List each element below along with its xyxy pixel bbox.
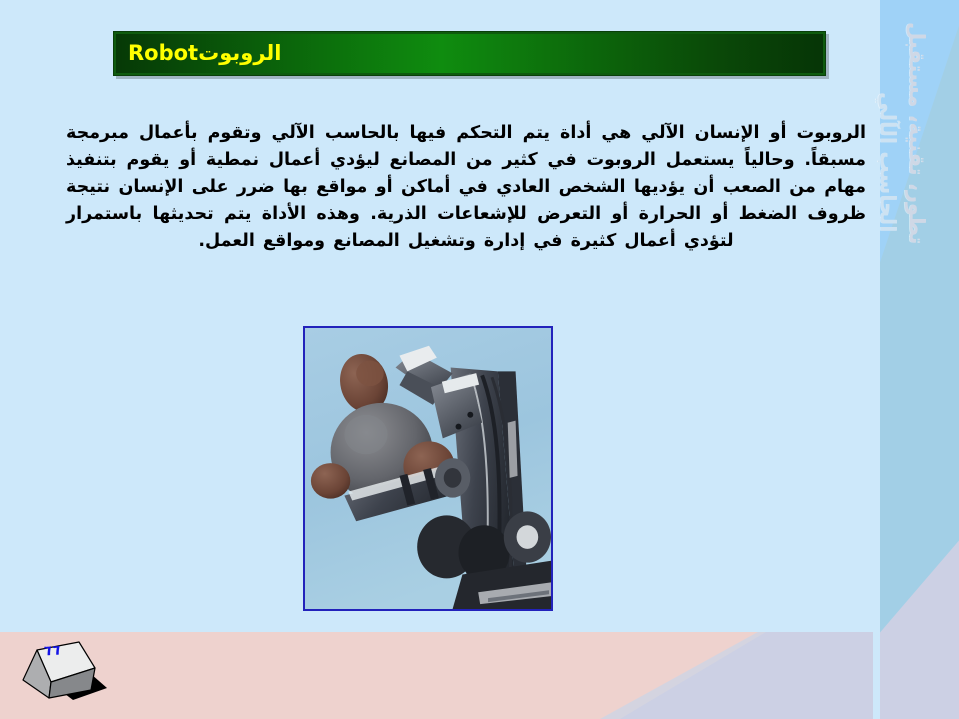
sidebar-caption-primary: تطور، تقنية، مستقبل: [905, 22, 929, 244]
sidebar: تطور، تقنية، مستقبل الحاسب الآلي: [873, 0, 959, 719]
slide-title-gradient: الروبوتRobot: [116, 34, 823, 73]
robot-photo: [303, 326, 553, 611]
slide-canvas: تطور، تقنية، مستقبل الحاسب الآلي الروبوت…: [0, 0, 959, 719]
page-number-block: ٦٦: [17, 634, 113, 714]
slide-body-paragraph: الروبوت أو الإنسان الآلي هي أداة يتم الت…: [66, 120, 866, 255]
sidebar-caption-secondary: الحاسب الآلي: [876, 92, 900, 232]
slide-title-text: الروبوتRobot: [128, 43, 281, 64]
slide-title-bar: الروبوتRobot: [113, 31, 826, 76]
robot-photo-artwork: [305, 328, 551, 609]
page-number-cube-icon: [17, 634, 113, 714]
